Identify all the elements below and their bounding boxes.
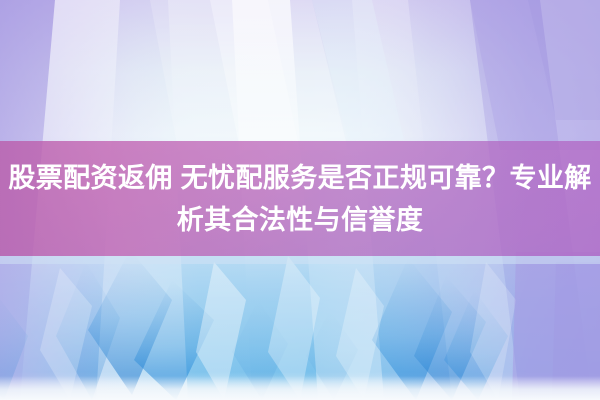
headline-line-2: 析其合法性与信誉度 [177,199,424,241]
headline-band: 股票配资返佣 无忧配服务是否正规可靠？专业解 析其合法性与信誉度 [0,141,600,256]
banner-canvas: 股票配资返佣 无忧配服务是否正规可靠？专业解 析其合法性与信誉度 [0,0,600,400]
headline-line-1: 股票配资返佣 无忧配服务是否正规可靠？专业解 [8,157,591,199]
